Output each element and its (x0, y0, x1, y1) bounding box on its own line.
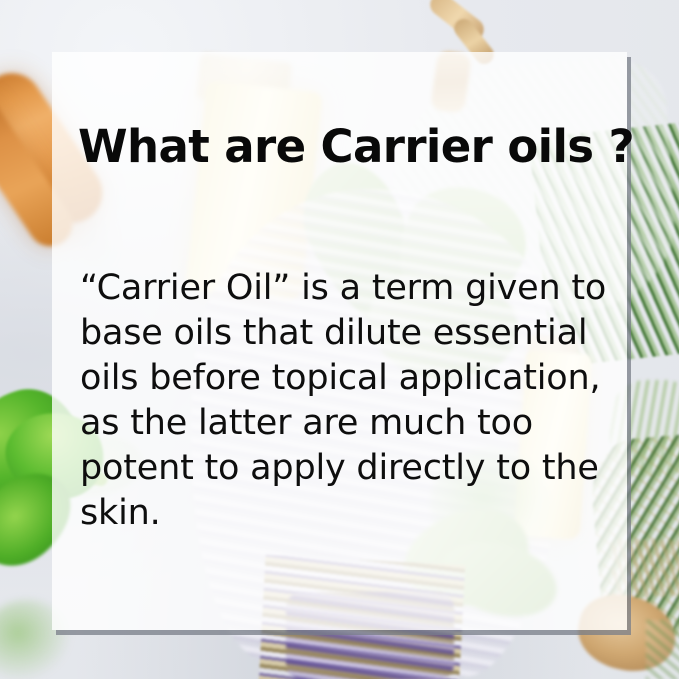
page-title: What are Carrier oils ? (78, 124, 618, 169)
content-card-inner: What are Carrier oils ? “Carrier Oil” is… (52, 52, 627, 630)
body-paragraph: “Carrier Oil” is a term given to base oi… (80, 266, 614, 536)
content-card: What are Carrier oils ? “Carrier Oil” is… (52, 52, 627, 630)
image-canvas: What are Carrier oils ? “Carrier Oil” is… (0, 0, 679, 679)
